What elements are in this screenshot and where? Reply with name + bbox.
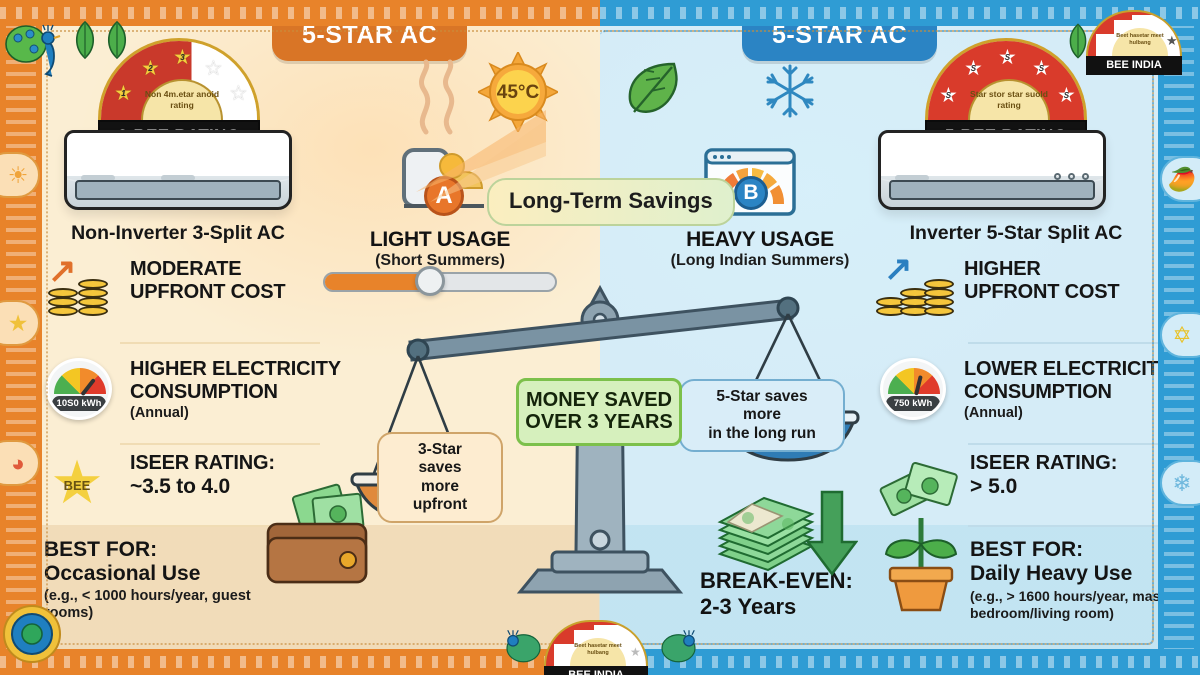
bee-india-label-bottom: BEE INDIA — [544, 666, 648, 675]
star-icon-white-3: ★S — [998, 47, 1017, 68]
snowflake-icon-edge-right: ❄ — [1160, 460, 1200, 506]
right-pan-label-line2: in the long run — [698, 425, 826, 443]
money-saved-line1: MONEY SAVED — [525, 389, 673, 411]
bee-india-label-corner: BEE INDIA — [1086, 56, 1182, 75]
star-icon-on-3: ★3 — [173, 47, 192, 68]
star-icon-edge-right: ✡ — [1160, 312, 1200, 358]
left-pan-label-line2: more upfront — [396, 478, 484, 515]
peacock-fan-icon-bottom-left — [2, 600, 72, 666]
left-divider-1 — [120, 342, 320, 344]
bee-india-emblem-bottom: ★ ★ ★ ★ ★ Beet hasetar meet hulbang BEE … — [544, 620, 648, 675]
left-feature-2-line2: CONSUMPTION — [130, 381, 341, 404]
left-product-caption: Non-Inverter 3-Split AC — [28, 222, 328, 245]
right-bee-inner-text: Star stor star suold rating — [970, 89, 1048, 110]
left-bee-inner-text: Non 4m.etar anoid rating — [143, 89, 221, 110]
left-pan-label: 3-Star saves more upfront — [377, 432, 503, 523]
left-feature-1-line2: UPFRONT COST — [130, 281, 285, 304]
down-arrow-icon — [806, 490, 858, 576]
right-feature-1-line1: HIGHER — [964, 258, 1119, 281]
light-usage-label: LIGHT USAGE (Short Summers) — [320, 228, 560, 270]
peacock-icon-bottom-center-right — [656, 622, 704, 670]
right-feature-upfront-cost: ↗ HIGHER UPFRONT COST — [876, 258, 1196, 320]
wallet-icon — [252, 482, 372, 592]
star-icon-white-4: ★S — [1032, 58, 1051, 79]
left-feature-upfront-cost: ↗ MODERATE UPFRONT COST — [42, 258, 362, 320]
snowflake-icon-center — [760, 62, 820, 120]
right-feature-iseer: ISEER RATING: > 5.0 — [970, 452, 1190, 499]
right-feature-3-line2: > 5.0 — [970, 475, 1190, 499]
bee-india-inner-text-corner: Beet hasetar meet hulbang — [1112, 33, 1168, 47]
bee-india-arc: ★ ★ ★ ★ ★ Beet hasetar meet hulbang — [1086, 10, 1182, 56]
bee-india-arc-bottom: ★ ★ ★ ★ ★ Beet hasetar meet hulbang — [544, 620, 648, 666]
bee-india-inner-text-bottom: Beet hasetar meet hulbang — [570, 643, 626, 657]
left-gauge-value: 10S0 kWh — [52, 396, 106, 411]
heavy-usage-label: HEAVY USAGE (Long Indian Summers) — [640, 228, 880, 270]
right-gauge-value: 750 kWh — [886, 396, 940, 411]
star-icon-off-5: ☆ — [229, 83, 248, 104]
coins-up-arrow-icon: ↗ — [876, 258, 950, 320]
bee-star-icon: ★BEE — [42, 452, 116, 514]
right-feature-best-for: BEST FOR: Daily Heavy Use (e.g., > 1600 … — [970, 538, 1188, 622]
right-best-for-value: Daily Heavy Use — [970, 562, 1188, 586]
gauge-icon: 10S0 kWh — [42, 358, 116, 420]
light-usage-title: LIGHT USAGE — [320, 228, 560, 252]
heavy-usage-sub: (Long Indian Summers) — [640, 252, 880, 270]
left-feature-2-sub: (Annual) — [130, 405, 341, 422]
leaf-icon-top-left-1 — [72, 20, 98, 60]
infographic-canvas: 5-STAR AC 5-STAR AC ★1 ★2 ★3 ☆ ☆ Non 4m.… — [0, 0, 1200, 675]
leaf-icon-top-left-2 — [104, 20, 130, 60]
left-feature-1-line1: MODERATE — [130, 258, 285, 281]
light-usage-sub: (Short Summers) — [320, 252, 560, 270]
right-product-caption: Inverter 5-Star Split AC — [866, 222, 1166, 245]
inverter-ac-illustration — [878, 130, 1106, 210]
right-feature-2-line1: LOWER ELECTRICITY — [964, 358, 1172, 381]
star-icon-on-1: ★1 — [114, 83, 133, 104]
left-best-for-sub: (e.g., < 1000 hours/year, guest rooms) — [44, 588, 294, 623]
money-saved-line2: OVER 3 YEARS — [525, 411, 673, 433]
star-icon-off-4: ☆ — [204, 58, 223, 79]
mango-icon-edge-right: 🥭 — [1160, 156, 1200, 202]
right-feature-3-line1: ISEER RATING: — [970, 452, 1190, 475]
right-pan-label: 5-Star saves more in the long run — [679, 379, 845, 452]
right-feature-1-line2: UPFRONT COST — [964, 281, 1119, 304]
right-divider-2 — [968, 443, 1168, 445]
left-pan-label-line1: 3-Star saves — [396, 441, 484, 478]
right-bee-arc: ★S ★S ★S ★S ★S Star stor star suold rati… — [925, 38, 1087, 120]
bee-india-emblem-corner: ★ ★ ★ ★ ★ Beet hasetar meet hulbang BEE … — [1086, 10, 1182, 75]
right-feature-electricity: 750 kWh LOWER ELECTRICITY CONSUMPTION (A… — [876, 358, 1196, 422]
right-divider-1 — [968, 342, 1168, 344]
left-feature-2-line1: HIGHER ELECTRICITY — [130, 358, 341, 381]
right-divider-3 — [968, 525, 1168, 527]
non-inverter-ac-illustration — [64, 130, 292, 210]
star-icon-on-2: ★2 — [141, 58, 160, 79]
star-icon-white-1: ★S — [939, 85, 958, 106]
star-icon-white-5: ★S — [1057, 85, 1076, 106]
heavy-usage-title: HEAVY USAGE — [640, 228, 880, 252]
star-icon-white-2: ★S — [964, 58, 983, 79]
energy-label-b-value: B — [734, 176, 768, 210]
right-feature-2-line2: CONSUMPTION — [964, 381, 1172, 404]
right-pan-label-line1: 5-Star saves more — [698, 388, 826, 425]
sun-temperature-label: 45°C — [478, 82, 558, 104]
money-plant-icon — [866, 458, 976, 618]
left-feature-electricity: 10S0 kWh HIGHER ELECTRICITY CONSUMPTION … — [42, 358, 362, 422]
peacock-icon-left — [4, 18, 68, 80]
money-saved-callout: MONEY SAVED OVER 3 YEARS — [516, 378, 682, 446]
right-best-for-sub: (e.g., > 1600 hours/year, master bedroom… — [970, 588, 1188, 622]
sunbeam-icon — [396, 106, 556, 216]
coins-up-arrow-icon: ↗ — [42, 258, 116, 320]
left-feature-3-line1: ISEER RATING: — [130, 452, 275, 475]
right-feature-2-sub: (Annual) — [964, 405, 1172, 422]
leaf-icon-center — [624, 58, 682, 120]
bee-star-label: BEE — [46, 454, 108, 512]
right-best-for-title: BEST FOR: — [970, 538, 1188, 562]
peacock-icon-bottom-center-left — [498, 622, 546, 670]
gauge-icon: 750 kWh — [876, 358, 950, 420]
left-divider-2 — [120, 443, 320, 445]
